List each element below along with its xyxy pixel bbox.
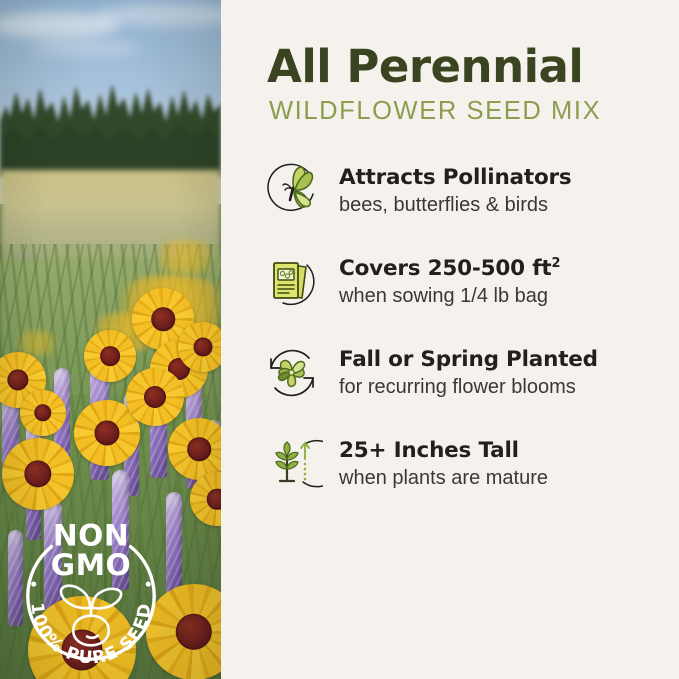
feature-item: Fall or Spring Planted for recurring flo… — [261, 342, 661, 404]
non-gmo-badge-graphic: NON GMO 100% PURE SEED — [12, 513, 170, 671]
seed-sprout-icon — [61, 586, 121, 646]
height-arrow — [301, 443, 309, 480]
feature-list: Attracts Pollinators bees, butterflies &… — [221, 160, 679, 495]
daisy-center — [100, 346, 120, 366]
feature-title: Fall or Spring Planted — [339, 347, 598, 372]
yellow-daisy — [168, 418, 221, 480]
plant-glyph — [276, 442, 298, 481]
yellow-daisy — [178, 322, 221, 372]
feature-subtitle: for recurring flower blooms — [339, 375, 598, 399]
feature-text: Attracts Pollinators bees, butterflies &… — [339, 164, 572, 217]
badge-ring-right — [131, 547, 155, 596]
daisy-center — [194, 338, 213, 357]
treeline — [0, 48, 221, 177]
feature-subtitle: when sowing 1/4 lb bag — [339, 284, 560, 308]
yellow-daisy — [2, 438, 74, 510]
butterfly-icon — [261, 160, 323, 222]
page-title: All Perennial — [267, 44, 649, 91]
feature-title: 25+ Inches Tall — [339, 438, 548, 463]
feature-item: 25+ Inches Tall when plants are mature — [261, 433, 661, 495]
yellow-daisy — [190, 472, 221, 526]
badge-dot — [31, 582, 36, 587]
feature-text: 25+ Inches Tall when plants are mature — [339, 437, 548, 490]
product-infographic: NON GMO 100% PURE SEED All Perennial — [0, 0, 679, 679]
daisy-center — [207, 489, 221, 510]
daisy-center — [144, 386, 166, 408]
feature-title: Covers 250-500 ft2 — [339, 256, 560, 281]
seed-packets-glyph — [274, 263, 306, 298]
content-panel: All Perennial WILDFLOWER SEED MIX — [221, 0, 679, 679]
feature-title-main: Covers 250-500 ft — [339, 256, 551, 281]
non-gmo-badge: NON GMO 100% PURE SEED — [12, 513, 170, 671]
feature-subtitle: when plants are mature — [339, 466, 548, 490]
daisy-center — [94, 420, 119, 445]
blurred-yellow-flowers — [150, 240, 220, 274]
title-block: All Perennial WILDFLOWER SEED MIX — [221, 0, 679, 126]
feature-title: Attracts Pollinators — [339, 165, 572, 190]
badge-dot — [146, 582, 151, 587]
flower-glyph — [279, 360, 305, 386]
flower-cycle-icon — [261, 342, 323, 404]
badge-ring-left — [28, 547, 52, 596]
daisy-center — [151, 307, 175, 331]
daisy-center — [187, 437, 211, 461]
feature-text: Fall or Spring Planted for recurring flo… — [339, 346, 598, 399]
feature-text: Covers 250-500 ft2 when sowing 1/4 lb ba… — [339, 255, 560, 308]
seed-packet-icon — [261, 251, 323, 313]
feature-item: Attracts Pollinators bees, butterflies &… — [261, 160, 661, 222]
yellow-daisy — [20, 390, 66, 436]
plant-height-icon — [261, 433, 323, 495]
feature-title-superscript: 2 — [551, 256, 560, 271]
feature-subtitle: bees, butterflies & birds — [339, 193, 572, 217]
feature-item: Covers 250-500 ft2 when sowing 1/4 lb ba… — [261, 251, 661, 313]
page-subtitle: WILDFLOWER SEED MIX — [269, 97, 649, 126]
badge-line2: GMO — [51, 548, 131, 582]
butterfly-glyph — [283, 167, 312, 207]
wildflower-photo: NON GMO 100% PURE SEED — [0, 0, 221, 679]
